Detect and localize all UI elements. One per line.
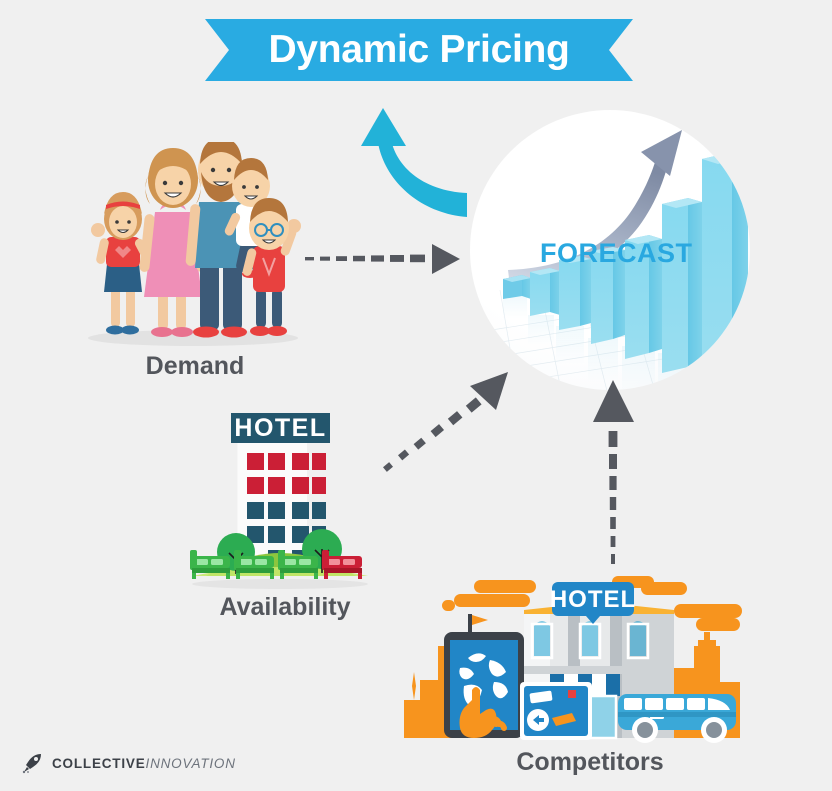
competitors-to-forecast-arrow <box>592 378 636 568</box>
brand-logo-secondary: INNOVATION <box>146 756 236 771</box>
chart-bars <box>503 152 748 390</box>
forecast-label: FORECAST <box>540 238 693 269</box>
availability-to-forecast-arrow <box>378 366 508 478</box>
demand-label: Demand <box>110 352 280 381</box>
brand-logo-text: COLLECTIVEINNOVATION <box>52 756 236 771</box>
family-member-boy <box>242 198 301 336</box>
rocket-icon <box>22 752 44 774</box>
hotel-building-illustration: HOTEL <box>188 404 372 589</box>
hotel-sign: HOTEL <box>231 413 330 443</box>
brand-logo-primary: COLLECTIVE <box>52 756 146 771</box>
forecast-curve-arrow <box>360 105 480 230</box>
title-ribbon: Dynamic Pricing <box>205 19 633 81</box>
family-illustration <box>78 142 303 354</box>
competitor-hotel-windows <box>532 621 648 658</box>
competitors-label: Competitors <box>490 748 690 777</box>
hotel-sign-text: HOTEL <box>234 414 326 442</box>
competitor-hotel-sign-text: HOTEL <box>550 586 636 613</box>
page-title: Dynamic Pricing <box>205 19 633 81</box>
availability-label: Availability <box>190 593 380 622</box>
infographic-canvas: Dynamic Pricing <box>0 0 832 791</box>
demand-to-forecast-arrow <box>305 240 460 278</box>
tickets-card <box>520 682 592 740</box>
competitors-illustration: HOTEL <box>402 562 742 748</box>
brand-logo: COLLECTIVEINNOVATION <box>22 752 236 774</box>
